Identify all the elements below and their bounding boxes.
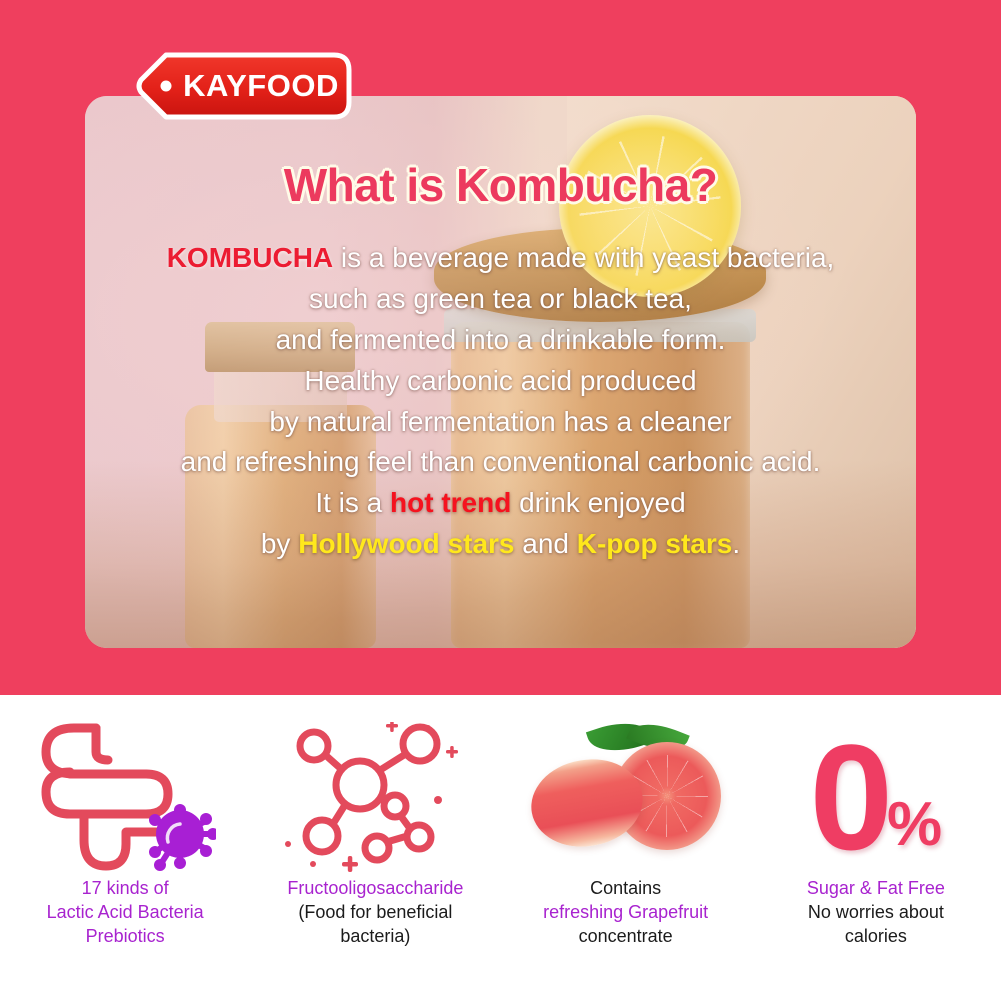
hero-body-text: KOMBUCHA is a beverage made with yeast b… xyxy=(85,238,916,565)
hero-text-line: KOMBUCHA is a beverage made with yeast b… xyxy=(85,238,916,279)
kayfood-logo[interactable]: KAYFOOD xyxy=(136,52,352,120)
caption-line: concentrate xyxy=(543,925,708,949)
hero-text-line: by natural fermentation has a cleaner xyxy=(85,402,916,443)
hero-text-span: such as green tea or black tea, xyxy=(309,283,692,314)
hero-text-span: by xyxy=(261,528,298,559)
grapefruit-photo xyxy=(531,722,721,872)
hero-text-span: K-pop stars xyxy=(577,528,733,559)
feature-caption: 17 kinds of Lactic Acid Bacteria Prebiot… xyxy=(41,877,210,949)
hero-text-span: Hollywood stars xyxy=(298,528,514,559)
page-title: What is Kombucha? xyxy=(85,158,916,212)
caption-line: (Food for beneficial xyxy=(287,901,463,925)
hero-text-span: by natural fermentation has a cleaner xyxy=(269,406,731,437)
zero-percent-graphic: 0 % xyxy=(810,728,943,866)
hero-text-line: It is a hot trend drink enjoyed xyxy=(85,483,916,524)
hero-banner: What is Kombucha? KOMBUCHA is a beverage… xyxy=(0,0,1001,695)
hero-text-line: such as green tea or black tea, xyxy=(85,279,916,320)
caption-line: No worries about xyxy=(807,901,945,925)
hero-text-span: and fermented into a drinkable form. xyxy=(276,324,726,355)
hero-text-span: KOMBUCHA xyxy=(167,242,333,273)
caption-line: Fructooligosaccharide xyxy=(287,877,463,901)
caption-line: Contains xyxy=(543,877,708,901)
hero-text-span: is a beverage made with yeast bacteria, xyxy=(333,242,834,273)
hero-text-span: hot trend xyxy=(390,487,511,518)
percent-symbol: % xyxy=(887,794,942,856)
hero-text-span: . xyxy=(732,528,740,559)
caption-line: Sugar & Fat Free xyxy=(807,877,945,901)
caption-line: calories xyxy=(807,925,945,949)
hero-text-span: and xyxy=(514,528,576,559)
hero-text-span: It is a xyxy=(315,487,390,518)
zero-percent-icon: 0 % xyxy=(810,717,943,877)
molecule-icon xyxy=(280,717,470,877)
caption-line: 17 kinds of xyxy=(47,877,204,901)
grapefruit-icon xyxy=(531,717,721,877)
hero-image-card: What is Kombucha? KOMBUCHA is a beverage… xyxy=(85,96,916,648)
caption-line: refreshing Grapefruit xyxy=(543,901,708,925)
feature-caption: Contains refreshing Grapefruit concentra… xyxy=(537,877,714,949)
feature-strip: 17 kinds of Lactic Acid Bacteria Prebiot… xyxy=(0,695,1001,1001)
hero-text-span: and refreshing feel than conventional ca… xyxy=(181,446,821,477)
intestine-bacteria-icon xyxy=(34,717,216,877)
hero-text-span: drink enjoyed xyxy=(511,487,685,518)
caption-line: Prebiotics xyxy=(47,925,204,949)
feature-lactic-acid-bacteria: 17 kinds of Lactic Acid Bacteria Prebiot… xyxy=(0,695,250,1001)
zero-digit: 0 xyxy=(810,728,893,866)
feature-caption: Sugar & Fat Free No worries about calori… xyxy=(801,877,951,949)
hero-text-line: and refreshing feel than conventional ca… xyxy=(85,442,916,483)
feature-fructooligosaccharide: Fructooligosaccharide (Food for benefici… xyxy=(250,695,500,1001)
hero-text-line: Healthy carbonic acid produced xyxy=(85,361,916,402)
logo-wordmark: KAYFOOD xyxy=(136,52,352,120)
hero-text-line: by Hollywood stars and K-pop stars. xyxy=(85,524,916,565)
hero-text-block: What is Kombucha? KOMBUCHA is a beverage… xyxy=(85,96,916,648)
caption-line: bacteria) xyxy=(287,925,463,949)
feature-caption: Fructooligosaccharide (Food for benefici… xyxy=(281,877,469,949)
caption-line: Lactic Acid Bacteria xyxy=(47,901,204,925)
hero-text-line: and fermented into a drinkable form. xyxy=(85,320,916,361)
hero-text-span: Healthy carbonic acid produced xyxy=(304,365,696,396)
feature-zero-sugar-fat: 0 % Sugar & Fat Free No worries about ca… xyxy=(751,695,1001,1001)
feature-grapefruit: Contains refreshing Grapefruit concentra… xyxy=(501,695,751,1001)
